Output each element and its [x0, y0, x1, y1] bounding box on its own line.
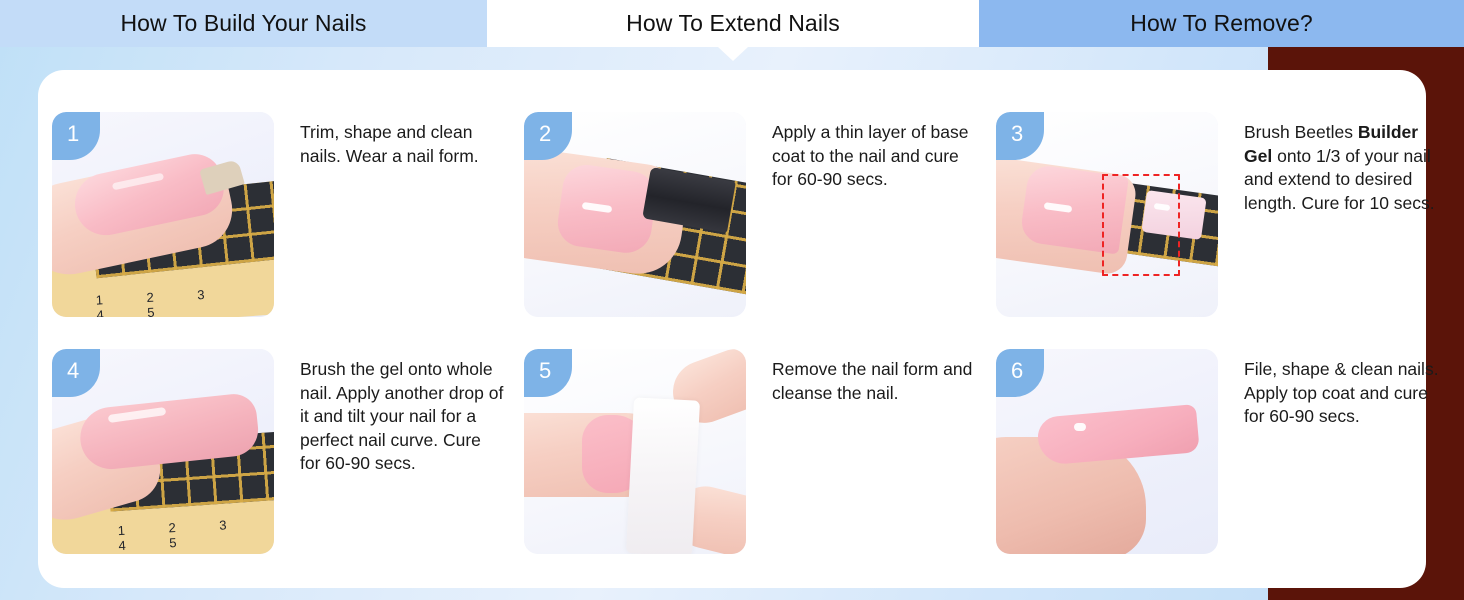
- step-caption-6: File, shape & clean nails. Apply top coa…: [1218, 349, 1450, 429]
- step-caption-5: Remove the nail form and cleanse the nai…: [746, 349, 978, 405]
- step-caption-1: Trim, shape and clean nails. Wear a nail…: [274, 112, 506, 168]
- tab-how-to-extend-nails[interactable]: How To Extend Nails: [487, 0, 979, 47]
- step-caption-3: Brush Beetles Builder Gel onto 1/3 of yo…: [1218, 112, 1450, 215]
- step-item-5: 5 Remove the nail form and cleanse the n…: [524, 349, 996, 565]
- active-tab-pointer-icon: [718, 47, 748, 61]
- tab-label: How To Remove?: [1130, 10, 1313, 37]
- step-photo-6: 6: [996, 349, 1218, 554]
- step-caption-4: Brush the gel onto whole nail. Apply ano…: [274, 349, 506, 476]
- step-item-1: 1 2 3 4 5 1 Trim, shape and clean nails.…: [52, 112, 524, 349]
- nail-gloss: [1074, 423, 1086, 431]
- tab-label: How To Build Your Nails: [120, 10, 366, 37]
- step-photo-5: 5: [524, 349, 746, 554]
- step-caption-2: Apply a thin layer of base coat to the n…: [746, 112, 978, 192]
- cotton-pad: [626, 397, 700, 554]
- step-photo-1: 1 2 3 4 5 1: [52, 112, 274, 317]
- step-photo-3: 3: [996, 112, 1218, 317]
- step-photo-4: 1 2 3 4 5 4: [52, 349, 274, 554]
- step-item-3: 3 Brush Beetles Builder Gel onto 1/3 of …: [996, 112, 1464, 349]
- tab-bar: How To Build Your Nails How To Extend Na…: [0, 0, 1464, 47]
- tab-how-to-build-your-nails[interactable]: How To Build Your Nails: [0, 0, 487, 47]
- step-item-2: 2 Apply a thin layer of base coat to the…: [524, 112, 996, 349]
- steps-grid: 1 2 3 4 5 1 Trim, shape and clean nails.…: [52, 112, 1412, 565]
- step-photo-2: 2: [524, 112, 746, 317]
- nail: [1036, 404, 1200, 466]
- tab-label: How To Extend Nails: [626, 10, 840, 37]
- instruction-panel: How To Build Your Nails How To Extend Na…: [0, 0, 1464, 600]
- annotation-dashed-box: [1102, 174, 1180, 276]
- tab-how-to-remove[interactable]: How To Remove?: [979, 0, 1464, 47]
- step-item-4: 1 2 3 4 5 4 Brush the gel onto whole nai…: [52, 349, 524, 565]
- step-item-6: 6 File, shape & clean nails. Apply top c…: [996, 349, 1464, 565]
